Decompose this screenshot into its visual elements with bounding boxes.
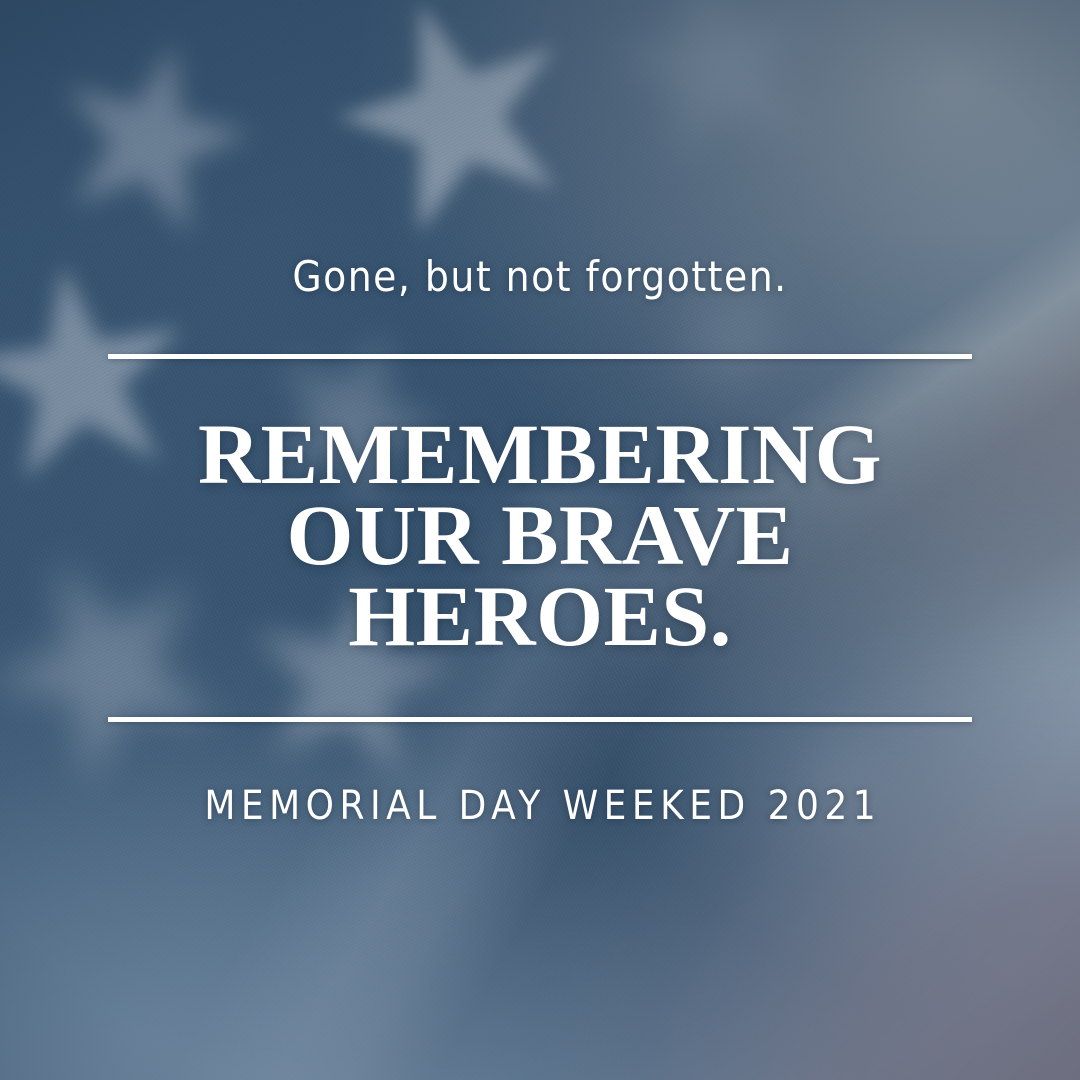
headline-line-1: REMEMBERING	[0, 414, 1080, 495]
tagline-text: Gone, but not forgotten.	[0, 252, 1080, 301]
headline-line-2: OUR BRAVE	[0, 495, 1080, 576]
headline-line-3: HEROES.	[0, 576, 1080, 657]
event-footer-text: MEMORIAL DAY WEEKED 2021	[0, 783, 1080, 829]
divider-rule-top	[108, 354, 972, 359]
divider-rule-bottom	[108, 717, 972, 722]
memorial-day-poster: Gone, but not forgotten. REMEMBERING OUR…	[0, 0, 1080, 1080]
poster-content: Gone, but not forgotten. REMEMBERING OUR…	[0, 0, 1080, 1080]
headline: REMEMBERING OUR BRAVE HEROES.	[0, 414, 1080, 657]
